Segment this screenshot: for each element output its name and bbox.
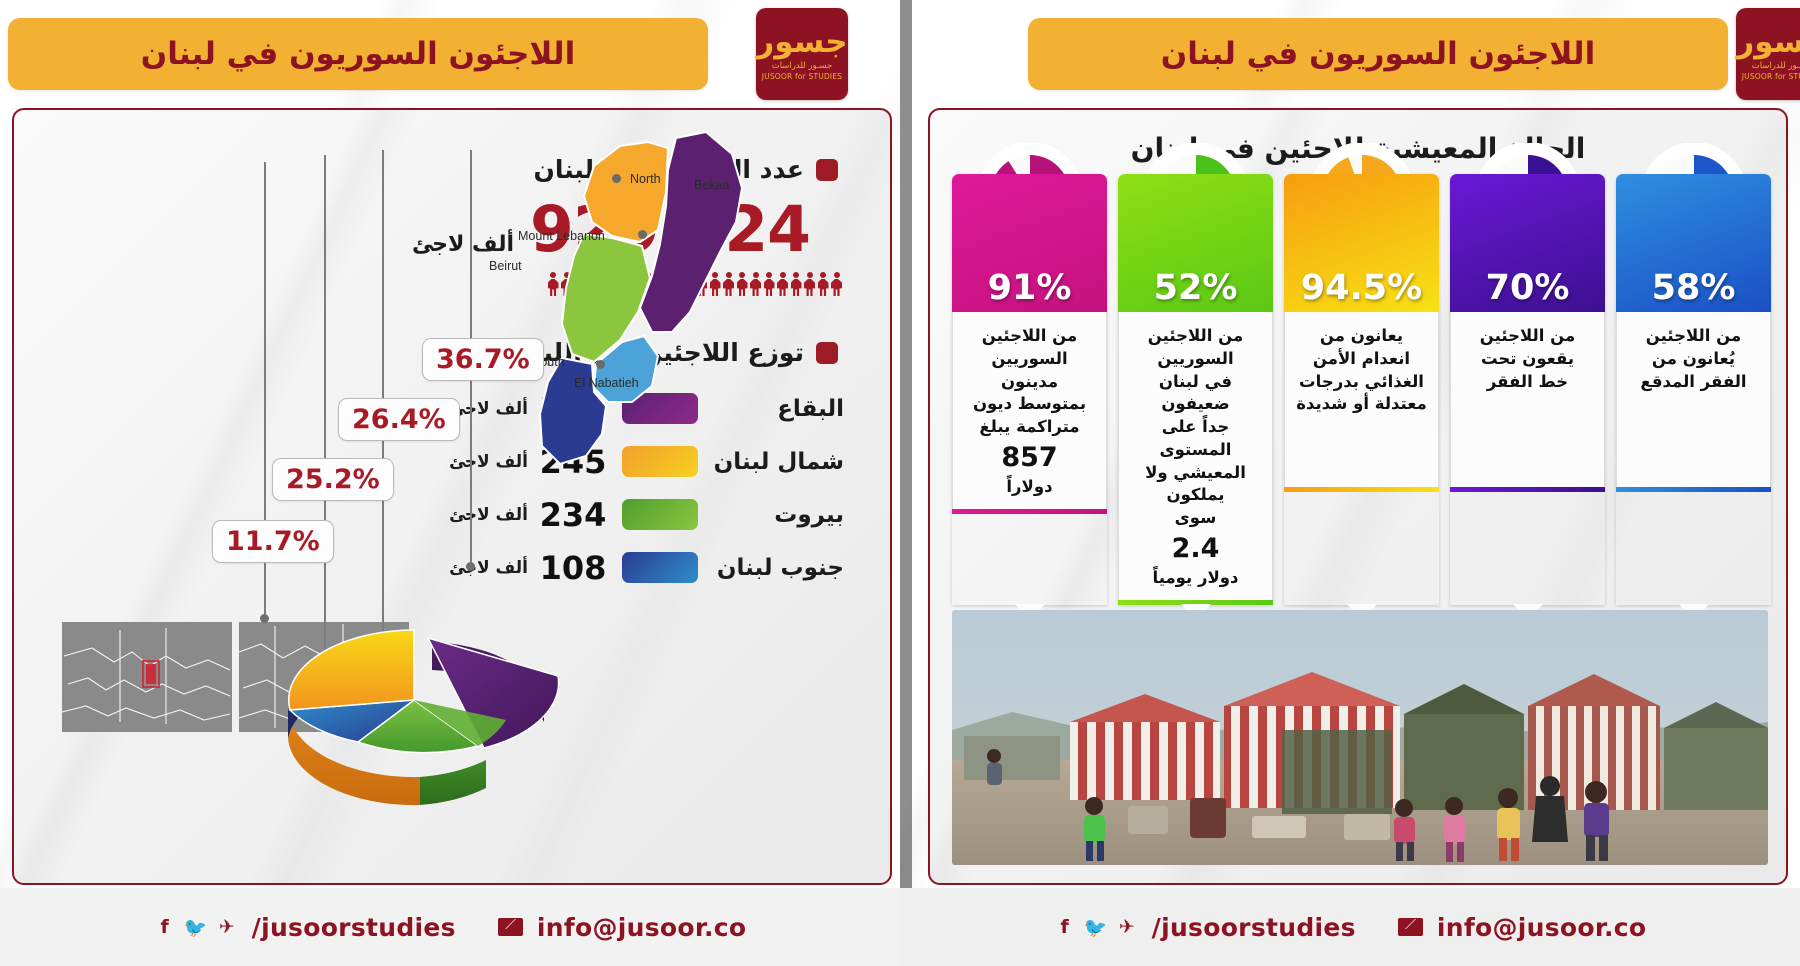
twitter-icon[interactable]: 🐦 (185, 916, 207, 938)
stat-card-header: 94.5% (1284, 174, 1439, 312)
email-icon (498, 918, 523, 936)
right-content-card: الحالة المعيشية للاجئين في لبنان 91% من … (928, 108, 1788, 885)
stat-description-line: في لبنان ضعيفون (1128, 371, 1263, 417)
stat-description-line: انعدام الأمن (1294, 348, 1429, 371)
map-dot-north (612, 174, 621, 183)
stat-description-line: من اللاجئين السوريين (1128, 325, 1263, 371)
jusoor-logo: جسور جسـور للدراسات JUSOOR for STUDIES (756, 8, 848, 100)
left-panel-title: اللاجئون السوريون في لبنان (141, 36, 575, 72)
legend-color-chip (622, 552, 698, 583)
stat-description-line: خط الفقر (1460, 371, 1595, 394)
callout-value-2: 26.4% (352, 404, 446, 435)
map-label-beirut: Beirut (489, 259, 522, 273)
stat-highlight-value: 2.4 (1128, 530, 1263, 567)
map-label-mount-lebanon: Mount Lebanon (518, 229, 605, 243)
refugee-camp-photo (952, 610, 1768, 865)
stat-description-line: من اللاجئين (1626, 325, 1761, 348)
left-footer: f 🐦 ✈ /jusoorstudies info@jusoor.co (0, 888, 900, 966)
email-icon (1398, 918, 1423, 936)
stat-card-accent-bar (952, 509, 1107, 514)
map-label-bekaa: Bekaa (694, 178, 729, 192)
jusoor-logo: جسور جسـور للدراسات JUSOOR for STUDIES (1736, 8, 1800, 100)
stat-percentage: 52% (1118, 268, 1273, 308)
stat-description-line: من اللاجئين (962, 325, 1097, 348)
telegram-icon[interactable]: ✈ (216, 916, 238, 938)
right-footer: f 🐦 ✈ /jusoorstudies info@jusoor.co (900, 888, 1800, 966)
callout-value-3: 25.2% (286, 464, 380, 495)
stat-description-line: يعانون من (1294, 325, 1429, 348)
left-header: اللاجئون السوريون في لبنان جسور جسـور لل… (0, 18, 900, 90)
social-icons-left[interactable]: f 🐦 ✈ (154, 916, 238, 938)
logo-calligraphy: جسور (756, 27, 847, 58)
social-icons-right[interactable]: f 🐦 ✈ (1054, 916, 1138, 938)
right-header: اللاجئون السوريون في لبنان جسور جسـور لل… (900, 18, 1800, 90)
twitter-icon[interactable]: 🐦 (1085, 916, 1107, 938)
distribution-pie-chart (228, 534, 588, 824)
stat-card: 94.5% يعانون منانعدام الأمنالغذائي بدرجا… (1284, 174, 1439, 605)
map-dot-nabatieh (596, 360, 605, 369)
stat-percentage: 91% (952, 268, 1107, 308)
stat-description-line: الغذائي بدرجات (1294, 371, 1429, 394)
map-label-el-nabatieh: El Nabatieh (574, 376, 639, 390)
stat-description: يعانون منانعدام الأمنالغذائي بدرجاتمعتدل… (1284, 312, 1439, 487)
callout-value-1: 36.7% (436, 344, 530, 375)
left-content-card: عدد اللاجئين في لبنان 929,624 ألف لاجئ ت… (12, 108, 892, 885)
logo-calligraphy: جسور (1736, 27, 1800, 58)
stat-card: 52% من اللاجئين السوريينفي لبنان ضعيفونج… (1118, 174, 1273, 605)
stat-description-line: السوريين مدينون (962, 348, 1097, 394)
stat-description-tail: دولاراً (962, 476, 1097, 499)
legend-region-name: جنوب لبنان (712, 555, 844, 581)
stat-card-header: 70% (1450, 174, 1605, 312)
stat-percentage: 58% (1616, 268, 1771, 308)
left-title-bar: اللاجئون السوريون في لبنان (8, 18, 708, 90)
social-handle-left[interactable]: /jusoorstudies (252, 913, 456, 942)
stat-description-line: المعيشي ولا يملكون (1128, 462, 1263, 508)
stat-description: من اللاجئينيقعون تحتخط الفقر (1450, 312, 1605, 487)
email-address-right[interactable]: info@jusoor.co (1437, 913, 1646, 942)
stat-card: 58% من اللاجئينيُعانون منالفقر المدقع (1616, 174, 1771, 605)
stat-description-line: بمتوسط ديون (962, 393, 1097, 416)
stat-card: 70% من اللاجئينيقعون تحتخط الفقر (1450, 174, 1605, 605)
email-address-left[interactable]: info@jusoor.co (537, 913, 746, 942)
lebanon-governorates-map: North Mount Lebanon Beirut Bekaa South E… (444, 126, 864, 546)
facebook-icon[interactable]: f (1054, 916, 1076, 938)
living-condition-cards: 91% من اللاجئينالسوريين مدينونبمتوسط ديو… (952, 174, 1771, 605)
stat-card-accent-bar (1284, 487, 1439, 492)
stat-card: 91% من اللاجئينالسوريين مدينونبمتوسط ديو… (952, 174, 1107, 605)
stat-description-line: معتدلة أو شديدة (1294, 393, 1429, 416)
stat-description-line: جداً على المستوى (1128, 416, 1263, 462)
stat-description: من اللاجئين السوريينفي لبنان ضعيفونجداً … (1118, 312, 1273, 600)
logo-arabic-name: جسـور للدراسات (1752, 61, 1800, 71)
stat-percentage: 94.5% (1284, 268, 1439, 308)
infographic-stage: اللاجئون السوريون في لبنان جسور جسـور لل… (0, 0, 1800, 966)
stat-card-header: 91% (952, 174, 1107, 312)
left-panel: اللاجئون السوريون في لبنان جسور جسـور لل… (0, 0, 900, 966)
stat-description-line: متراكمة يبلغ (962, 416, 1097, 439)
stat-card-header: 58% (1616, 174, 1771, 312)
logo-english-name: JUSOOR for STUDIES (1742, 72, 1800, 81)
callout-pct-3: 25.2% (272, 458, 394, 501)
social-handle-right[interactable]: /jusoorstudies (1152, 913, 1356, 942)
callout-pct-2: 26.4% (338, 398, 460, 441)
map-dot-mount-lebanon (638, 230, 647, 239)
stat-card-header: 52% (1118, 174, 1273, 312)
stat-card-accent-bar (1616, 487, 1771, 492)
map-label-north: North (630, 172, 661, 186)
stat-description-line: يُعانون من (1626, 348, 1761, 371)
right-title-bar: اللاجئون السوريون في لبنان (1028, 18, 1728, 90)
stat-description: من اللاجئينيُعانون منالفقر المدقع (1616, 312, 1771, 487)
stat-description-line: يقعون تحت (1460, 348, 1595, 371)
stat-description-tail: دولار يومياً (1128, 567, 1263, 590)
stat-description: من اللاجئينالسوريين مدينونبمتوسط ديونمتر… (952, 312, 1107, 509)
stat-description-line: الفقر المدقع (1626, 371, 1761, 394)
right-panel: اللاجئون السوريون في لبنان جسور جسـور لل… (900, 0, 1800, 966)
stat-description-line: من اللاجئين (1460, 325, 1595, 348)
stat-percentage: 70% (1450, 268, 1605, 308)
stat-description-line: سوى (1128, 507, 1263, 530)
stat-highlight-value: 857 (962, 439, 1097, 476)
logo-english-name: JUSOOR for STUDIES (762, 72, 842, 81)
telegram-icon[interactable]: ✈ (1116, 916, 1138, 938)
facebook-icon[interactable]: f (154, 916, 176, 938)
region-locator-map (62, 622, 232, 732)
right-panel-title: اللاجئون السوريون في لبنان (1161, 36, 1595, 72)
logo-arabic-name: جسـور للدراسات (772, 61, 833, 71)
stat-card-accent-bar (1450, 487, 1605, 492)
callout-pct-1: 36.7% (422, 338, 544, 381)
